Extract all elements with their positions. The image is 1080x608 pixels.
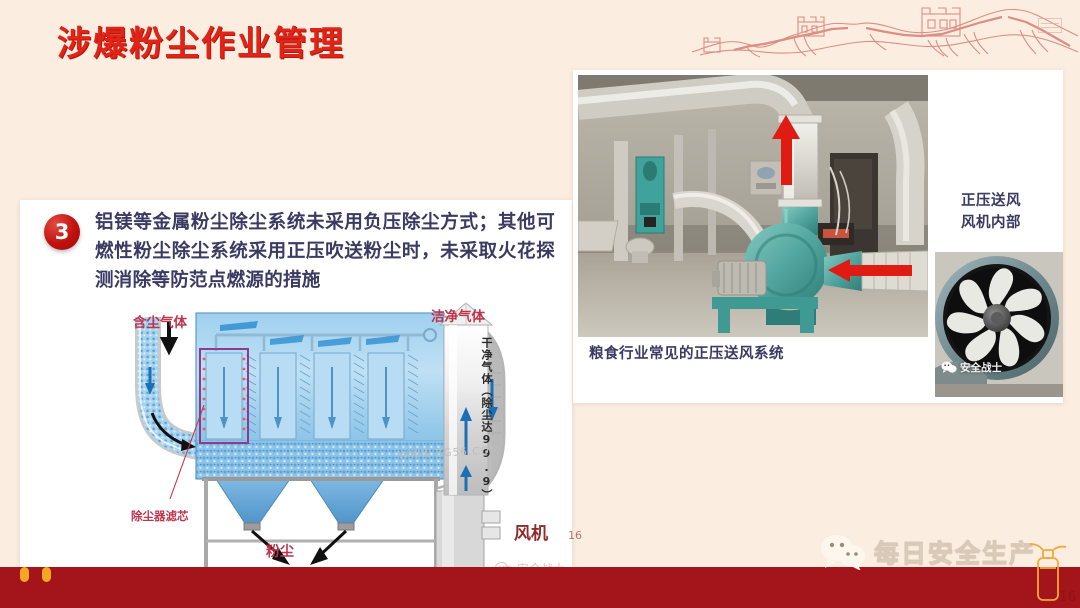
fan-photo-watermark-text: 安全战士 xyxy=(960,360,1002,375)
wechat-icon xyxy=(820,534,866,570)
label-dust: 粉尘 xyxy=(266,541,294,561)
decoration-dot-2 xyxy=(42,567,51,582)
great-wall-decoration-icon xyxy=(690,0,1080,62)
clause-text: 铝镁等金属粉尘除尘系统未采用负压除尘方式；其他可燃性粉尘除尘系统采用正压吹送粉尘… xyxy=(95,208,555,296)
bottom-watermark-text: 每日安全生产 xyxy=(874,534,1036,570)
slide-root: 涉爆粉尘作业管理 3 铝镁等金属粉尘除尘系统未采用负压除尘方式；其他可燃性粉尘除… xyxy=(0,0,1080,608)
label-clean-gas: 洁净气体 xyxy=(431,305,485,325)
photo-main-caption: 粮食行业常见的正压送风系统 xyxy=(589,342,784,363)
wall-stamp-icon xyxy=(1038,18,1062,33)
fan-impeller-photo xyxy=(935,252,1063,397)
wechat-icon xyxy=(941,361,957,374)
label-inlet-gas: 含尘气体 xyxy=(133,311,187,331)
page-title: 涉爆粉尘作业管理 xyxy=(57,16,345,65)
clause-number-badge: 3 xyxy=(44,214,80,250)
fan-photo-watermark: 安全战士 xyxy=(941,360,1002,375)
label-clean-gas-note: 干净气体（除尘达99.9） xyxy=(478,337,494,501)
positive-pressure-blower-photo xyxy=(578,75,928,337)
label-filter-cartridge: 除尘器滤芯 xyxy=(131,508,189,524)
fan-photo-label-line2: 风机内部 xyxy=(961,212,1061,234)
photo-panel: 粮食行业常见的正压送风系统 正压送风 风机内部 xyxy=(573,70,1063,403)
fan-photo-label: 正压送风 风机内部 xyxy=(961,190,1061,234)
label-fan: 风机 xyxy=(514,519,548,544)
fan-photo-label-line1: 正压送风 xyxy=(961,190,1061,212)
dust-collector-schematic: 含尘气体 洁净气体 干净气体（除尘达99.9） 除尘器滤芯 粉尘 风机 WWW.… xyxy=(20,295,572,582)
page-number: 16 xyxy=(1059,590,1076,605)
decoration-dot-1 xyxy=(20,567,29,582)
page-number-left: 16 xyxy=(568,529,582,542)
clause-panel: 3 铝镁等金属粉尘除尘系统未采用负压除尘方式；其他可燃性粉尘除尘系统采用正压吹送… xyxy=(20,200,572,582)
bottom-watermark: 每日安全生产 xyxy=(820,534,1036,570)
bottom-bar xyxy=(0,567,1080,608)
